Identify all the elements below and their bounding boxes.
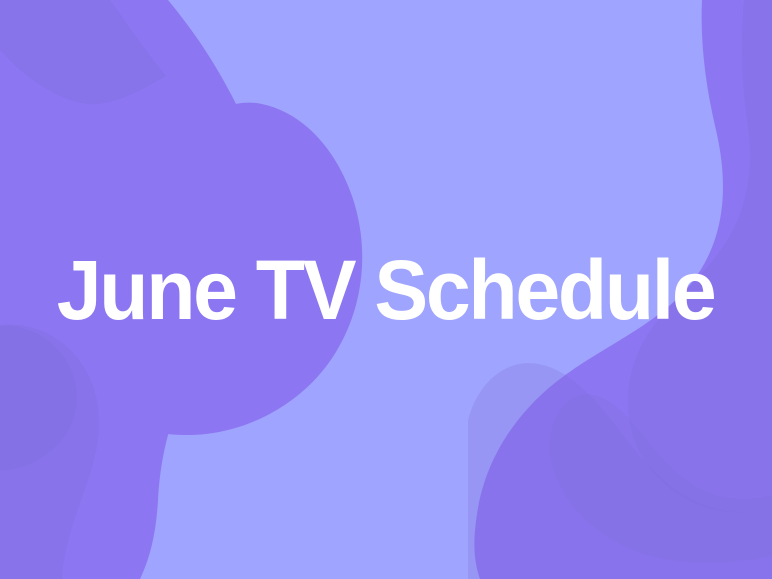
june-tv-schedule-banner: June TV Schedule xyxy=(0,0,772,579)
page-title: June TV Schedule xyxy=(57,248,715,332)
title-container: June TV Schedule xyxy=(0,0,772,579)
